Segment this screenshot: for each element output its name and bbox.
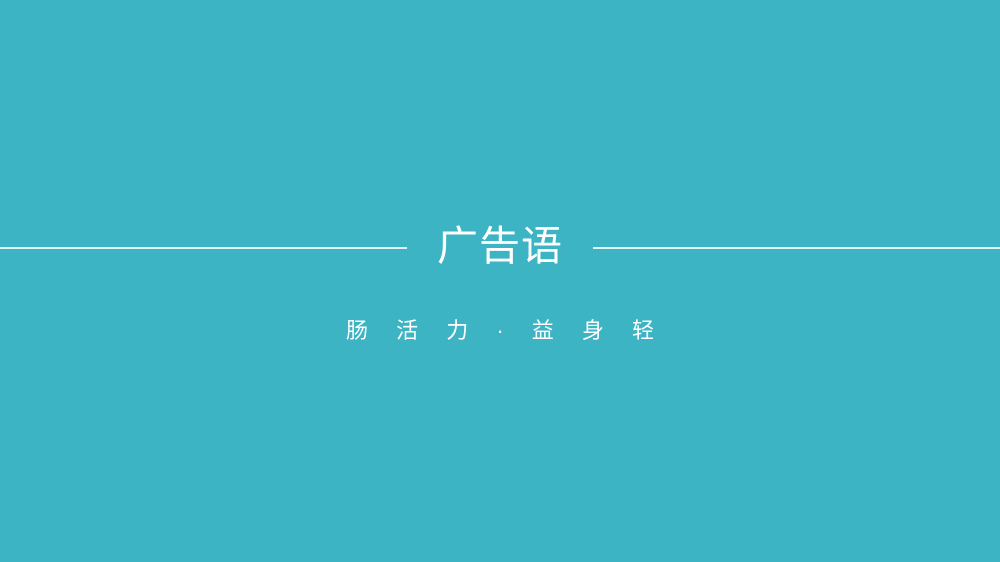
title-band: 广告语: [0, 206, 1000, 290]
title-rule-right: [593, 247, 1000, 249]
page-title: 广告语: [437, 226, 563, 271]
slide-canvas: 广告语 肠 活 力 · 益 身 轻: [0, 0, 1000, 562]
subtitle-container: 肠 活 力 · 益 身 轻: [0, 318, 1000, 344]
title-rule-left: [0, 247, 407, 249]
page-subtitle: 肠 活 力 · 益 身 轻: [335, 318, 665, 344]
